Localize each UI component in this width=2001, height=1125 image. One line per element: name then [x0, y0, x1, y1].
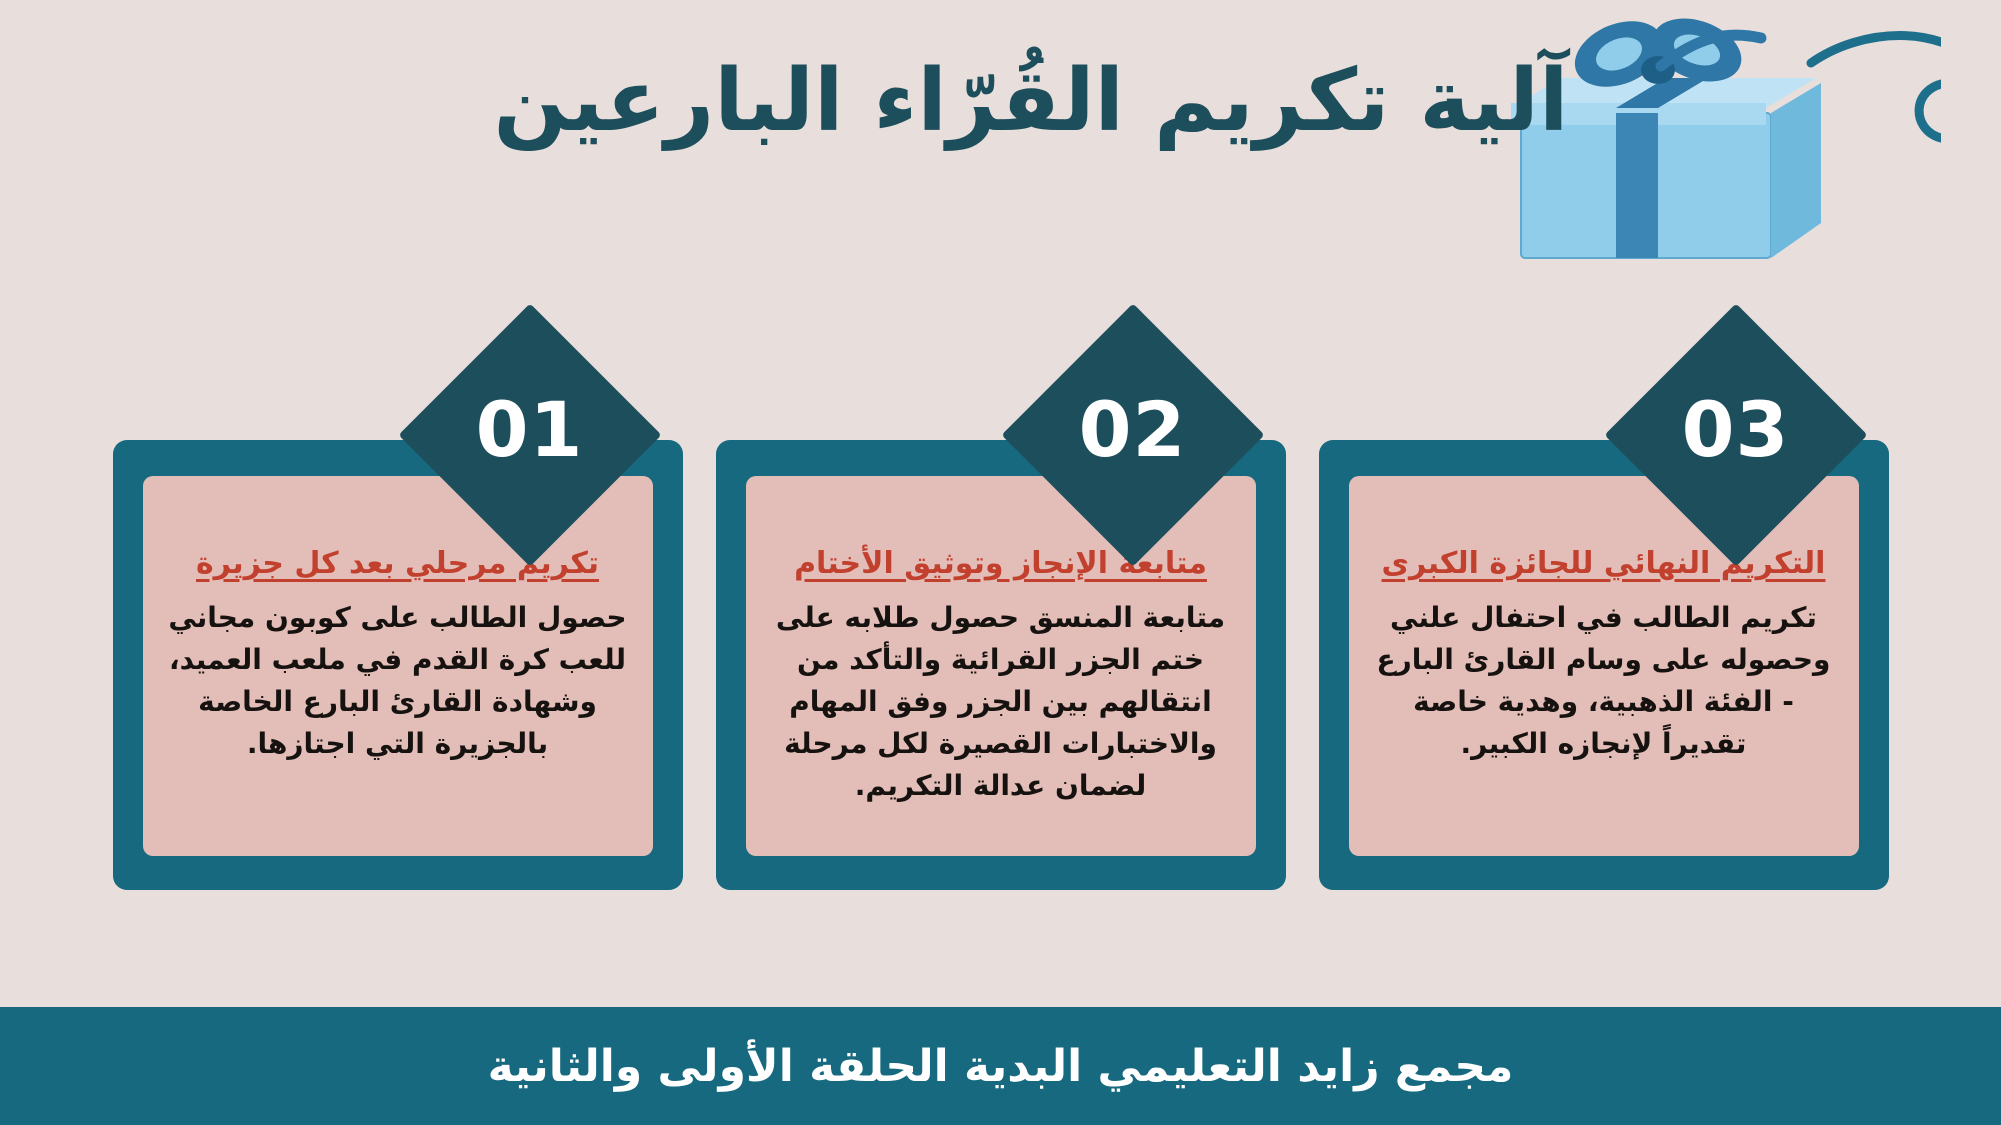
- step-card-inner: التكريم النهائي للجائزة الكبرى تكريم الط…: [1349, 476, 1859, 856]
- steps-container: 01 تكريم مرحلي بعد كل جزيرة حصول الطالب …: [0, 440, 2001, 900]
- step-body: متابعة المنسق حصول طلابه على ختم الجزر ا…: [768, 597, 1234, 807]
- footer-text: مجمع زايد التعليمي البدية الحلقة الأولى …: [488, 1041, 1514, 1092]
- step-body: حصول الطالب على كوبون مجاني للعب كرة الق…: [165, 597, 631, 765]
- step-heading: التكريم النهائي للجائزة الكبرى: [1382, 544, 1826, 583]
- step-card-02[interactable]: 02 متابعة الإنجاز وتوثيق الأختام متابعة …: [716, 440, 1286, 890]
- footer-bar: مجمع زايد التعليمي البدية الحلقة الأولى …: [0, 1007, 2001, 1125]
- page-title: آلية تكريم القُرّاء البارعين: [481, 48, 1581, 156]
- slide-root: آلية تكريم القُرّاء البارعين 01 تكريم مر…: [0, 0, 2001, 1125]
- title-text: آلية تكريم القُرّاء البارعين: [481, 48, 1581, 156]
- step-card-inner: متابعة الإنجاز وتوثيق الأختام متابعة الم…: [746, 476, 1256, 856]
- step-card-03[interactable]: 03 التكريم النهائي للجائزة الكبرى تكريم …: [1319, 440, 1889, 890]
- step-card-01[interactable]: 01 تكريم مرحلي بعد كل جزيرة حصول الطالب …: [113, 440, 683, 890]
- step-body: تكريم الطالب في احتفال علني وحصوله على و…: [1371, 597, 1837, 765]
- step-card-inner: تكريم مرحلي بعد كل جزيرة حصول الطالب على…: [143, 476, 653, 856]
